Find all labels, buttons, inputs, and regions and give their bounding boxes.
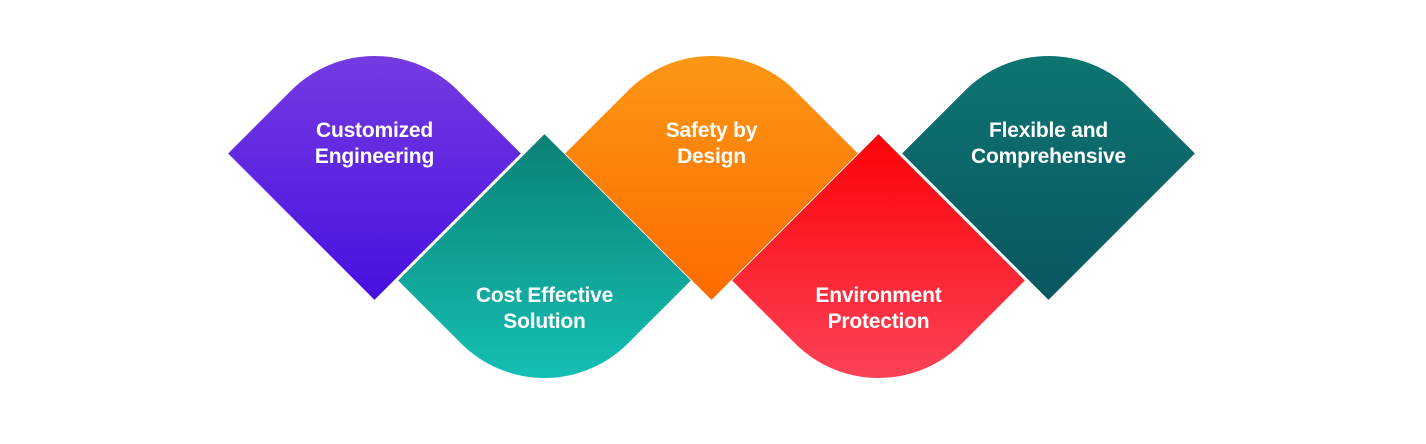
diamond-feature-diagram: Customized Engineering Cost Effective So…	[0, 0, 1426, 444]
